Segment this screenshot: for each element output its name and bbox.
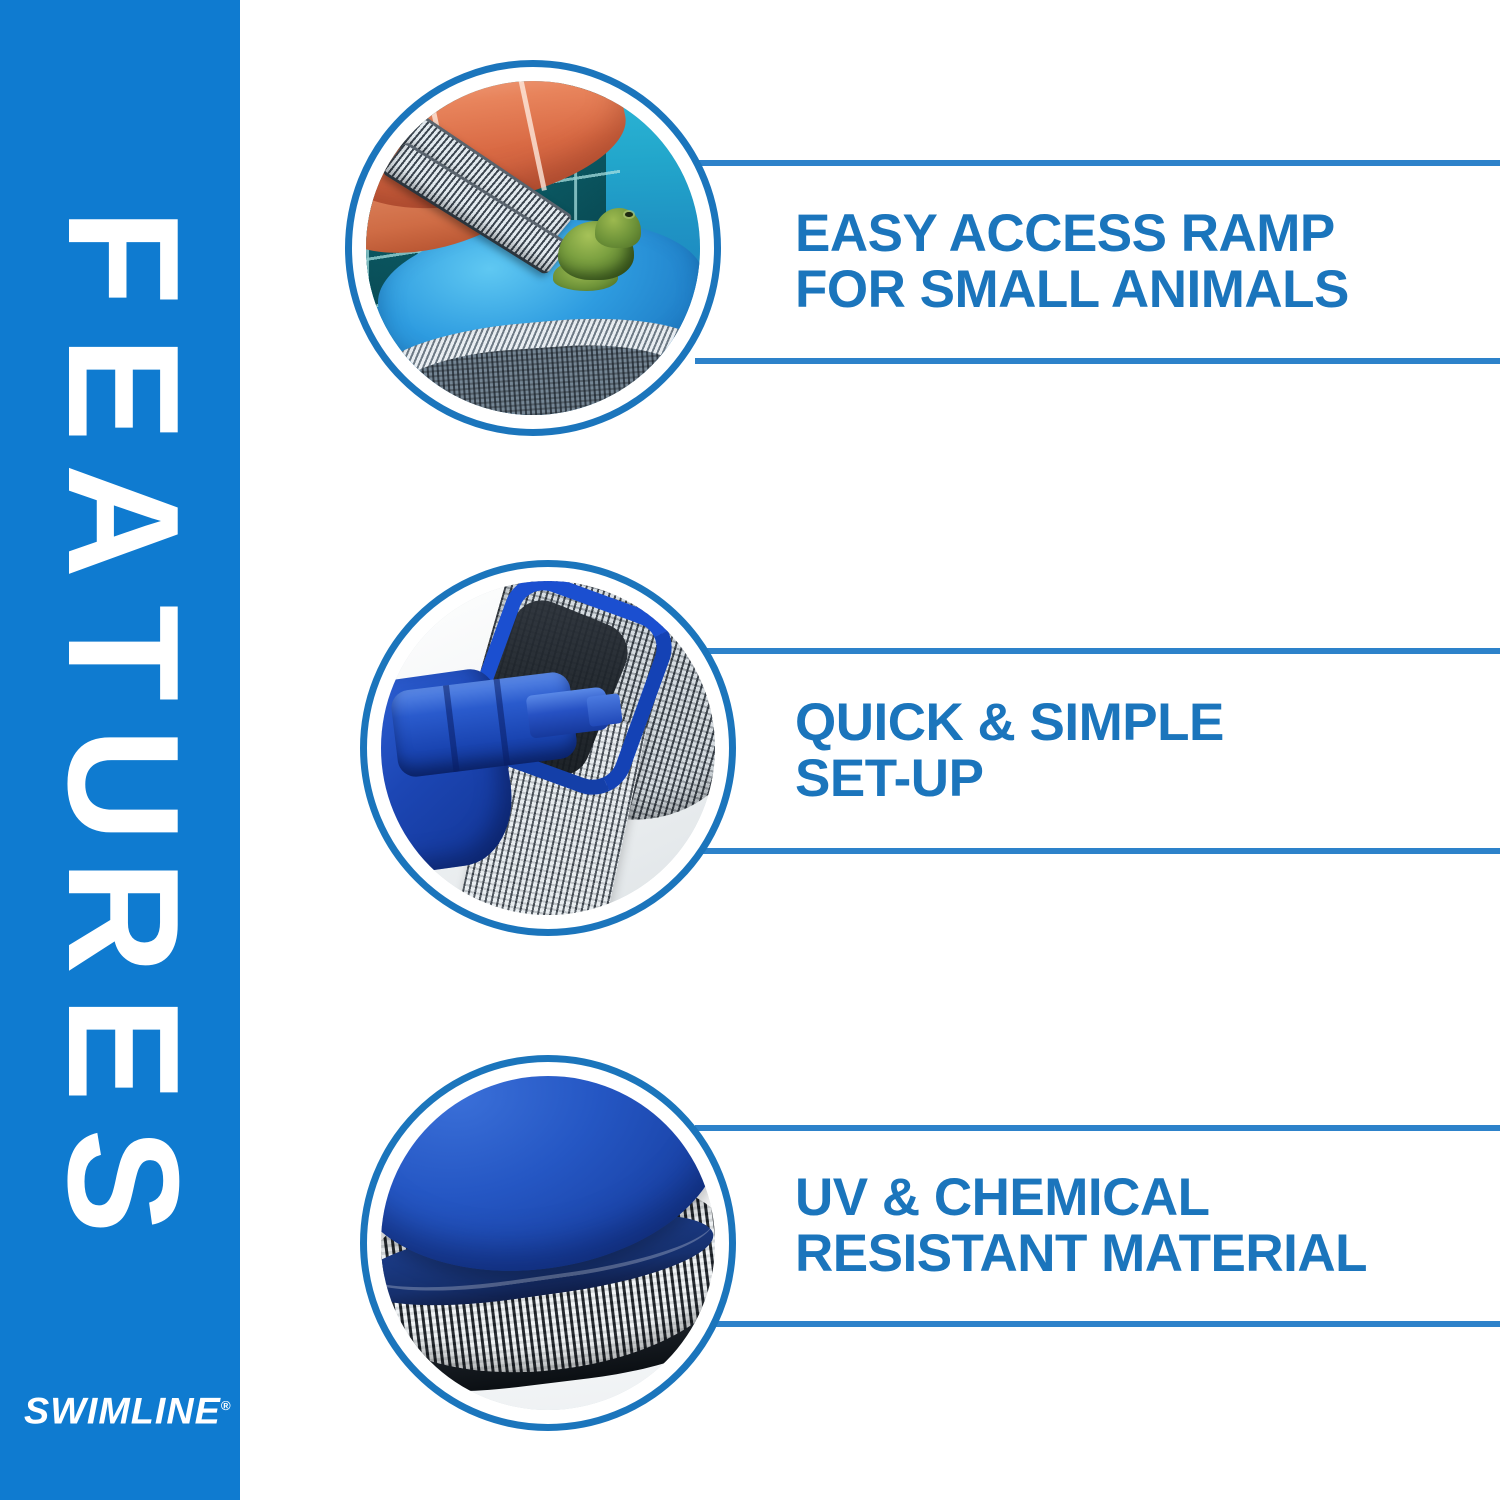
feature-photo-2 [381,581,715,915]
feature-photo-1 [366,81,700,415]
feature-photo-circle-1 [345,60,721,436]
feature-panel-3: UV & CHEMICAL RESISTANT MATERIAL [695,1125,1500,1327]
feature-title-3: UV & CHEMICAL RESISTANT MATERIAL [795,1170,1367,1282]
feature-photo-circle-3 [360,1055,736,1431]
swimline-logo: SWIMLINE® [24,1384,224,1428]
registered-trademark-icon: ® [221,1398,231,1413]
feature-infographic: F E A T U R E S SWIMLINE® EASY ACCESS RA… [0,0,1500,1500]
feature-row-quick-simple-setup: QUICK & SIMPLE SET-UP [240,560,1500,960]
features-vertical-heading: F E A T U R E S [0,190,240,1270]
feature-panel-1: EASY ACCESS RAMP FOR SMALL ANIMALS [695,160,1500,364]
feature-photo-circle-2 [360,560,736,936]
photo-inflation-valve [381,581,715,915]
feature-row-easy-access-ramp: EASY ACCESS RAMP FOR SMALL ANIMALS [240,60,1500,460]
sidebar: F E A T U R E S SWIMLINE® [0,0,240,1500]
feature-title-2: QUICK & SIMPLE SET-UP [795,695,1224,807]
frog-icon [553,208,643,298]
swimline-wordmark: SWIMLINE [24,1390,221,1431]
features-letter-s: S [54,1060,186,1300]
photo-frog-on-pool-pad [366,81,700,415]
feature-panel-2: QUICK & SIMPLE SET-UP [695,648,1500,854]
photo-uv-resistant-material [381,1076,715,1410]
feature-row-uv-chemical-resistant: UV & CHEMICAL RESISTANT MATERIAL [240,1055,1500,1455]
feature-photo-3 [381,1076,715,1410]
feature-title-1: EASY ACCESS RAMP FOR SMALL ANIMALS [795,206,1349,318]
